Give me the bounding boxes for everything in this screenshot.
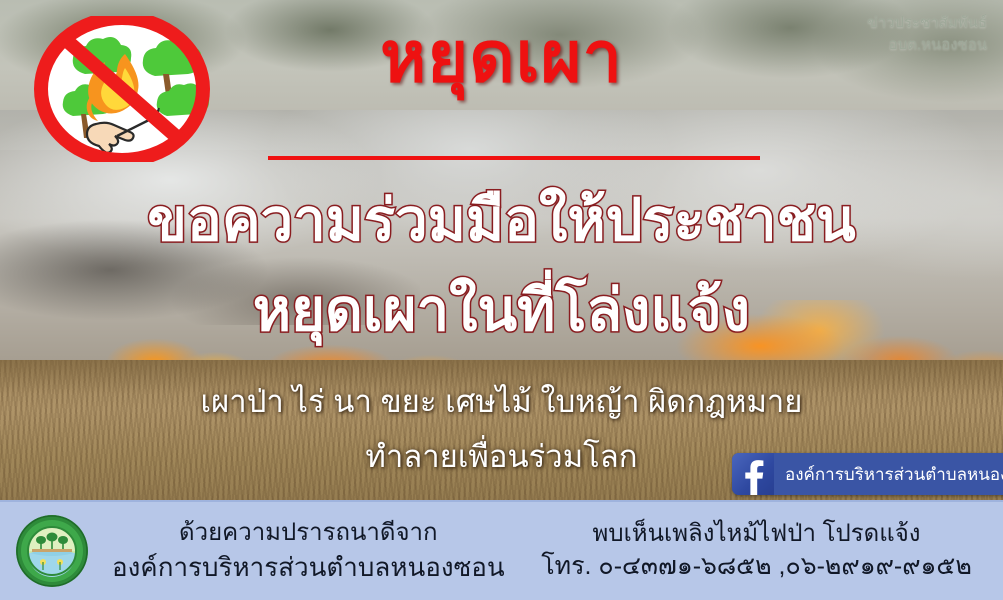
public-relations-note: ข่าวประชาสัมพันธ์ อบต.หนองซอน <box>867 12 987 56</box>
fire-prevention-poster: หยุดเผา ข่าวประชาสัมพันธ์ อบต.หนองซอน ขอ… <box>0 0 1003 600</box>
footer-bar: ด้วยความปรารถนาดีจาก องค์การบริหารส่วนตำ… <box>0 500 1003 600</box>
main-message-line2: หยุดเผาในที่โล่งแจ้ง <box>0 282 1003 340</box>
footer-right-block: พบเห็นเพลิงไหม้ไฟป่า โปรดแจ้ง โทร. ๐-๔๓๗… <box>520 518 1003 584</box>
facebook-page-name: องค์การบริหารส่วนตำบลหนองซอน <box>774 461 1003 488</box>
headline-stop-burning: หยุดเผา <box>0 22 1003 92</box>
footer-left-line1: ด้วยความปรารถนาดีจาก <box>112 517 505 549</box>
headline-divider-rule <box>268 156 760 160</box>
facebook-page-badge[interactable]: องค์การบริหารส่วนตำบลหนองซอน <box>732 453 1003 495</box>
main-message-line1: ขอความร่วมมือให้ประชาชน <box>0 192 1003 250</box>
subdistrict-administrative-organization-seal <box>14 513 90 589</box>
footer-left-text: ด้วยความปรารถนาดีจาก องค์การบริหารส่วนตำ… <box>90 517 505 584</box>
footer-right-phone: โทร. ๐-๔๓๗๑-๖๘๕๒ ,๐๖-๒๙๑๙-๙๑๕๒ <box>520 550 993 584</box>
footer-left-block: ด้วยความปรารถนาดีจาก องค์การบริหารส่วนตำ… <box>0 513 520 589</box>
facebook-f-icon <box>732 453 774 495</box>
pr-note-line2: อบต.หนองซอน <box>867 34 987 56</box>
footer-right-line1: พบเห็นเพลิงไหม้ไฟป่า โปรดแจ้ง <box>520 518 993 550</box>
footer-left-line2: องค์การบริหารส่วนตำบลหนองซอน <box>112 550 505 585</box>
pr-note-line1: ข่าวประชาสัมพันธ์ <box>867 12 987 34</box>
sub-message-line1: เผาป่า ไร่ นา ขยะ เศษไม้ ใบหญ้า ผิดกฎหมา… <box>0 386 1003 417</box>
